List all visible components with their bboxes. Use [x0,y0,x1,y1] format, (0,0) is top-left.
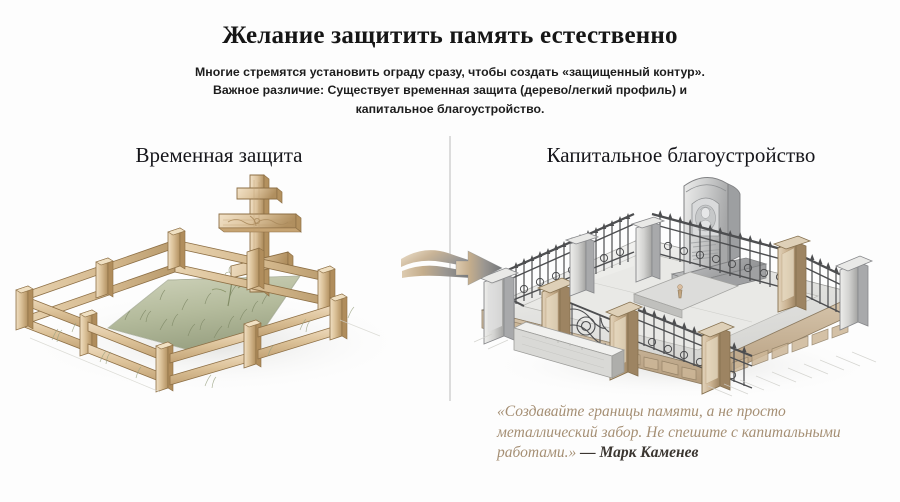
subtitle-line-2: Важное различие: Существует временная за… [0,81,900,100]
pull-quote: «Создавайте границы памяти, а не просто … [497,402,889,464]
column-right-heading: Капитальное благоустройство [462,136,900,167]
quote-attribution: — Марк Каменев [580,444,698,461]
page-title: Желание защитить память естественно [0,22,900,50]
column-temporary-protection: Временная защита [0,136,438,502]
subtitle-line-1: Многие стремятся установить ограду сразу… [0,63,900,82]
wooden-fence-grave-illustration [0,170,438,402]
subtitle-line-2-rest: : Существует временная защита (дерево/ле… [320,83,687,97]
subtitle-line-3: капитальное благоустройство. [0,100,900,119]
granite-memorial-complex-illustration [462,170,900,402]
column-left-heading: Временная защита [0,136,438,167]
subtitle: Многие стремятся установить ограду сразу… [0,63,900,119]
header: Желание защитить память естественно Мног… [0,0,900,119]
subtitle-emphasis: Важное различие [213,83,320,97]
